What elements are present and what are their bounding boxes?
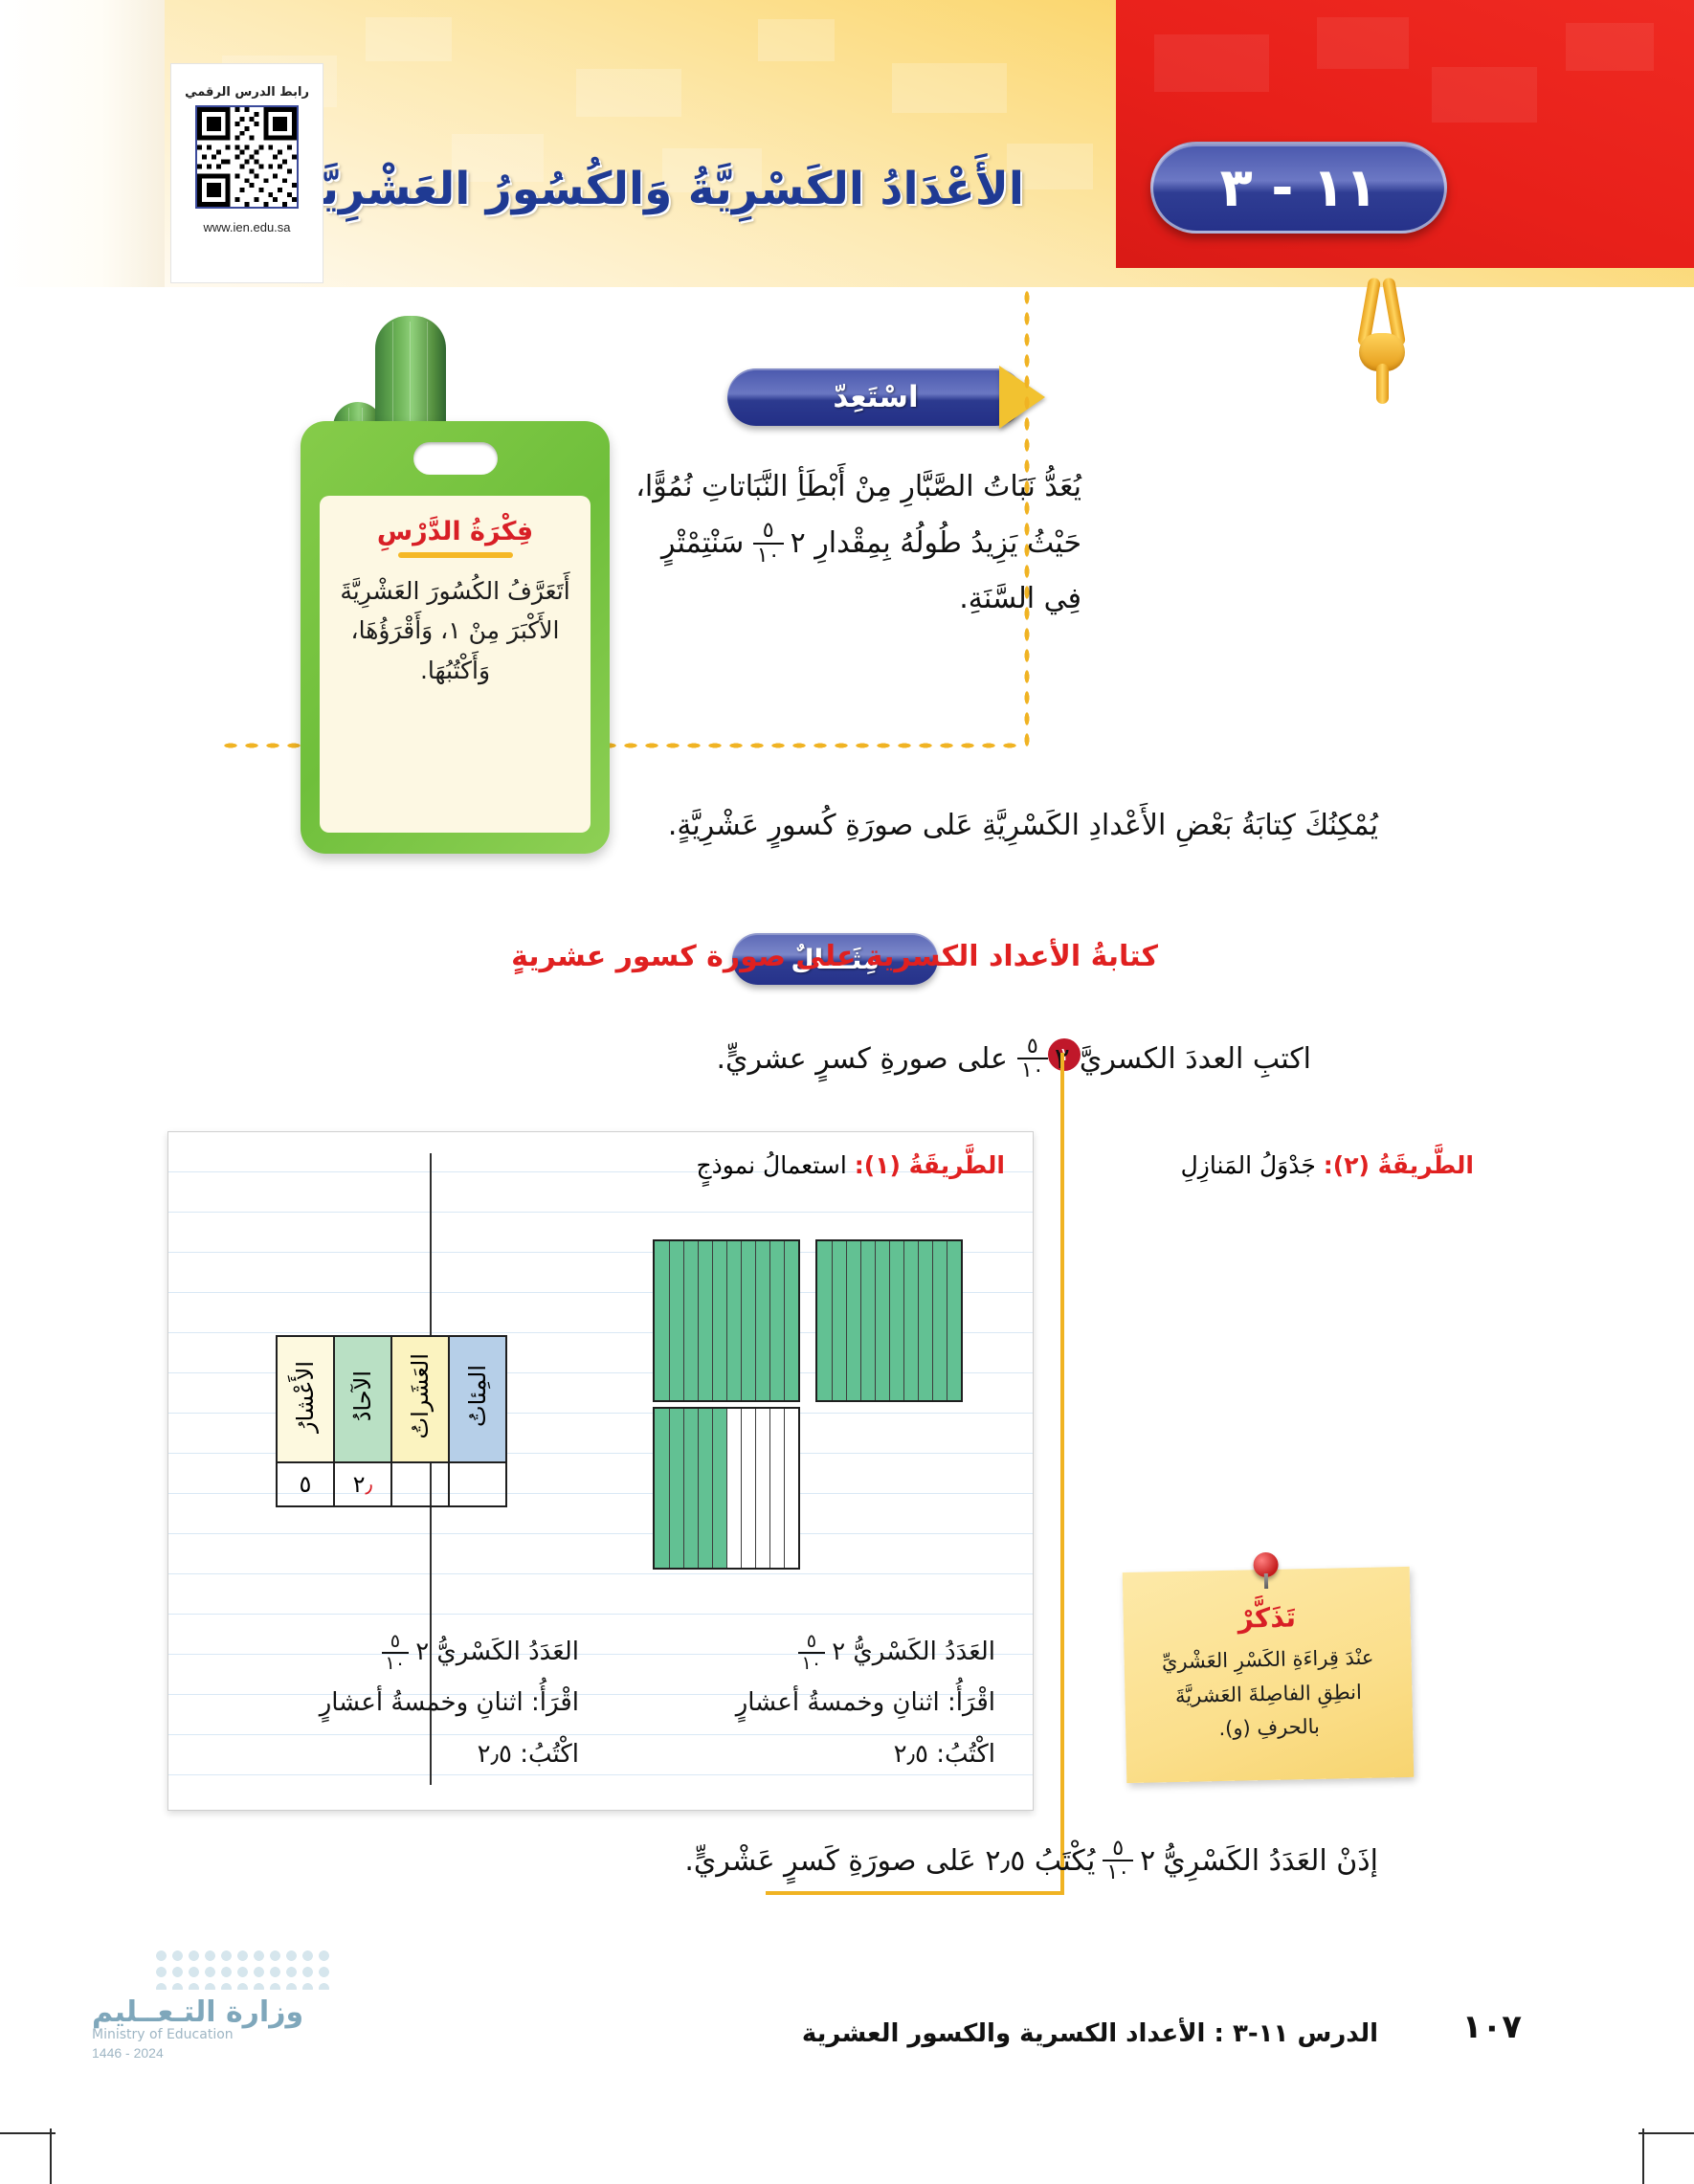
- model-bar-1: [815, 1239, 963, 1402]
- place-value-cell-ones: ٢٫: [334, 1462, 391, 1506]
- model-summary: العَدَدُ الكَسْريُّ ٢ ٥ ١٠ اقْرَأُ: اثنا…: [632, 1627, 995, 1780]
- model-cell: [726, 1409, 741, 1568]
- prepare-fraction-numerator: ٥: [759, 520, 778, 542]
- conclusion-sentence: إذَنْ العَدَدُ الكَسْرِيُّ ٢ ٥ ١٠ يُكْتَ…: [684, 1838, 1378, 1884]
- model-cell: [669, 1241, 683, 1400]
- ministry-year: 2024 - 1446: [92, 2045, 369, 2061]
- conclusion-fraction: ٥ ١٠: [1103, 1838, 1133, 1884]
- place-value-header-tenths: الأَعْشارُ: [277, 1336, 334, 1462]
- crop-mark-bottom-left: [50, 2128, 52, 2184]
- model-cell: [784, 1241, 798, 1400]
- connector-line-vertical: [1060, 1053, 1064, 1895]
- place-value-header-row: المِئاتُ العَشَراتُ الآحادُ الأَعْشارُ: [277, 1336, 506, 1462]
- table-summary-write-line: اكْتُبُ: ٢٫٥: [206, 1729, 579, 1780]
- table-summary-denominator: ١٠: [382, 1652, 410, 1673]
- method-1-label-red: الطَّريقَةُ (١):: [855, 1151, 1005, 1179]
- example-question: اكتبِ العددَ الكسريَّ ٢ ٥ ١٠ على صورةِ ك…: [716, 1036, 1311, 1082]
- prepare-arrow-icon: [999, 366, 1045, 429]
- model-cell: [932, 1241, 947, 1400]
- model-summary-write-line: اكْتُبُ: ٢٫٥: [632, 1729, 995, 1780]
- method-2-label-red: الطَّريقَةُ (٢):: [1324, 1151, 1474, 1179]
- prepare-fraction-denominator: ١٠: [753, 543, 784, 567]
- table-summary-mixed: ٢ ٥ ١٠: [382, 1627, 430, 1678]
- model-summary-line-1: العَدَدُ الكَسْريُّ ٢ ٥ ١٠: [632, 1627, 995, 1678]
- place-value-cell-hundreds: [449, 1462, 506, 1506]
- header-tile: [576, 69, 681, 117]
- place-value-header-tens: العَشَراتُ: [391, 1336, 449, 1462]
- conclusion-before: إذَنْ العَدَدُ الكَسْرِيُّ: [1163, 1844, 1378, 1878]
- prepare-mixed-number: ٢ ٥ ١٠: [753, 516, 806, 572]
- place-value-cell-tenths: ٥: [277, 1462, 334, 1506]
- model-cell: [755, 1241, 769, 1400]
- red-block-tile: [1432, 67, 1537, 123]
- lesson-idea-tag: فِكْرَةُ الدَّرْسِ أَتَعَرَّفُ الكُسُورَ…: [301, 421, 610, 854]
- footer-lesson-caption: الدرس ١١-٣ : الأعداد الكسرية والكسور الع…: [802, 2019, 1378, 2048]
- place-value-header-hundreds: المِئاتُ: [449, 1336, 506, 1462]
- table-summary-numerator: ٥: [387, 1632, 404, 1651]
- model-cell: [655, 1409, 669, 1568]
- model-summary-whole: ٢: [832, 1627, 845, 1678]
- qr-label: رابط الدرس الرقمي: [185, 85, 309, 100]
- qr-code-svg: [197, 107, 297, 207]
- model-summary-denominator: ١٠: [798, 1652, 826, 1673]
- question-text-before: اكتبِ العددَ الكسريَّ: [1080, 1042, 1311, 1076]
- connector-line-horizontal: [766, 1891, 1064, 1895]
- model-cell: [712, 1409, 726, 1568]
- crop-mark-right-lower: [1638, 2132, 1694, 2134]
- prepare-banner: اسْتَعِدّ: [727, 368, 1024, 426]
- model-cell: [832, 1241, 846, 1400]
- header-tile: [758, 19, 835, 61]
- red-block-tile: [1154, 34, 1269, 92]
- model-cell: [741, 1241, 755, 1400]
- lesson-idea-title: فِكْرَةُ الدَّرْسِ: [337, 517, 573, 546]
- prepare-paragraph: يُعَدُّ نَبَاتُ الصَّبَّارِ مِنْ أَبْطَأ…: [632, 459, 1081, 628]
- prepare-fraction: ٥ ١٠: [753, 520, 784, 567]
- digital-lesson-qr-card[interactable]: رابط الدرس الرقمي: [170, 63, 323, 283]
- qr-url-text: www.ien.edu.sa: [203, 220, 290, 234]
- model-cell: [784, 1409, 798, 1568]
- model-cell: [726, 1241, 741, 1400]
- model-cell: [918, 1241, 932, 1400]
- model-cell: [755, 1409, 769, 1568]
- model-summary-label: العَدَدُ الكَسْريُّ: [853, 1638, 995, 1666]
- conclusion-numerator: ٥: [1108, 1838, 1127, 1860]
- rope-strand-tail: [1376, 364, 1389, 404]
- question-fraction-denominator: ١٠: [1017, 1058, 1048, 1081]
- method-2-label: الطَّريقَةُ (٢): جَدْوَلُ المَنازِلِ: [1181, 1151, 1474, 1179]
- place-value-cell-tens: [391, 1462, 449, 1506]
- remember-title: تَذَكَّرْ: [1140, 1599, 1393, 1637]
- crop-mark-left-lower: [0, 2132, 56, 2134]
- table-summary-whole: ٢: [415, 1627, 429, 1678]
- model-bar-3: [653, 1407, 800, 1570]
- model-cell: [741, 1409, 755, 1568]
- model-cell: [846, 1241, 860, 1400]
- table-summary-label: العَدَدُ الكَسْريُّ: [436, 1638, 579, 1666]
- model-cell: [875, 1241, 889, 1400]
- header-tile: [366, 17, 452, 61]
- tag-hole: [413, 442, 498, 475]
- model-cell: [769, 1241, 784, 1400]
- lesson-number-badge: ١١ - ٣: [1150, 142, 1447, 234]
- qr-code-image[interactable]: [195, 105, 299, 209]
- page-number: ١٠٧: [1462, 2008, 1522, 2046]
- model-cell: [655, 1241, 669, 1400]
- question-fraction-numerator: ٥: [1023, 1036, 1042, 1058]
- place-value-value-row: ٢٫ ٥: [277, 1462, 506, 1506]
- table-summary-fraction: ٥ ١٠: [382, 1632, 410, 1672]
- conclusion-mixed-number: ٢ ٥ ١٠: [1103, 1838, 1155, 1884]
- ministry-name-arabic: وزارة التـعــليم: [92, 1995, 369, 2029]
- table-summary-read-line: اقْرَأُ: اثنانِ وخمسةُ أعشارٍ: [206, 1678, 579, 1728]
- model-cell: [769, 1409, 784, 1568]
- method-1-label-rest: استعمالُ نموذجٍ: [697, 1151, 847, 1179]
- conclusion-denominator: ١٠: [1103, 1860, 1133, 1883]
- lesson-idea-body: أَتَعَرَّفُ الكُسُورَ العَشْرِيَّةَ الأَ…: [337, 571, 573, 690]
- prepare-mixed-whole: ٢: [791, 516, 806, 572]
- model-cell: [698, 1409, 712, 1568]
- remember-body: عنْدَ قِراءَةِ الكَسْرِ العَشْريِّ انطِق…: [1141, 1640, 1395, 1749]
- method-1-label: الطَّريقَةُ (١): استعمالُ نموذجٍ: [697, 1151, 1005, 1179]
- red-block-tile: [1317, 17, 1409, 69]
- model-cell: [683, 1241, 698, 1400]
- model-summary-mixed: ٢ ٥ ١٠: [798, 1627, 846, 1678]
- crop-mark-bottom-right: [1642, 2128, 1644, 2184]
- footer-dot-pattern: [153, 1948, 335, 1990]
- decimal-comma: ٫: [366, 1471, 373, 1498]
- model-cell: [698, 1241, 712, 1400]
- question-fraction: ٥ ١٠: [1017, 1036, 1048, 1082]
- model-summary-read-line: اقْرَأُ: اثنانِ وخمسةُ أعشارٍ: [632, 1678, 995, 1728]
- model-summary-numerator: ٥: [803, 1632, 820, 1651]
- model-bar-2: [653, 1239, 800, 1402]
- lesson-idea-card: فِكْرَةُ الدَّرْسِ أَتَعَرَّفُ الكُسُورَ…: [320, 496, 591, 833]
- method-2-label-rest: جَدْوَلُ المَنازِلِ: [1181, 1151, 1316, 1179]
- ministry-logo: وزارة التـعــليم Ministry of Education 2…: [92, 1995, 369, 2061]
- model-cell: [683, 1409, 698, 1568]
- place-value-digit-ones: ٢: [353, 1471, 366, 1498]
- dotted-separator-vertical: [1023, 287, 1031, 747]
- red-block-tile: [1566, 23, 1654, 71]
- table-summary: العَدَدُ الكَسْريُّ ٢ ٥ ١٠ اقْرَأُ: اثنا…: [206, 1627, 579, 1780]
- table-summary-line-1: العَدَدُ الكَسْريُّ ٢ ٥ ١٠: [206, 1627, 579, 1678]
- ministry-name-english: Ministry of Education: [92, 2027, 369, 2042]
- place-value-header-ones: الآحادُ: [334, 1336, 391, 1462]
- question-text-after: على صورةِ كسرٍ عشريٍّ.: [716, 1042, 1007, 1076]
- tag-rope: [1357, 278, 1407, 392]
- remember-sticky-note: تَذَكَّرْ عنْدَ قِراءَةِ الكَسْرِ العَشْ…: [1123, 1567, 1415, 1783]
- pushpin-icon: [1253, 1552, 1279, 1578]
- model-cell: [712, 1241, 726, 1400]
- model-cell: [817, 1241, 832, 1400]
- model-cell: [860, 1241, 875, 1400]
- model-cell: [889, 1241, 903, 1400]
- model-cell: [669, 1409, 683, 1568]
- conclusion-after: يُكْتَبُ ٢٫٥ عَلى صورَةِ كَسرٍ عَشْريٍّ.: [684, 1844, 1095, 1878]
- conclusion-whole: ٢: [1140, 1844, 1155, 1878]
- intro-sentence: يُمْكِنُكَ كِتابَةُ بَعْضِ الأَعْدادِ ال…: [668, 809, 1378, 842]
- page-title: الأَعْدَادُ الكَسْرِيَّةُ وَالكُسُورُ ال…: [295, 163, 1024, 215]
- header-left-white-panel: [0, 0, 168, 287]
- lesson-idea-underline: [398, 552, 513, 558]
- header-tile: [892, 63, 1007, 113]
- example-heading: كتابةُ الأعداد الكسرية على صورة كسور عشر…: [511, 940, 1158, 973]
- model-summary-fraction: ٥ ١٠: [798, 1632, 826, 1672]
- place-value-table: المِئاتُ العَشَراتُ الآحادُ الأَعْشارُ ٢…: [276, 1335, 507, 1507]
- model-cell: [903, 1241, 918, 1400]
- model-cell: [947, 1241, 961, 1400]
